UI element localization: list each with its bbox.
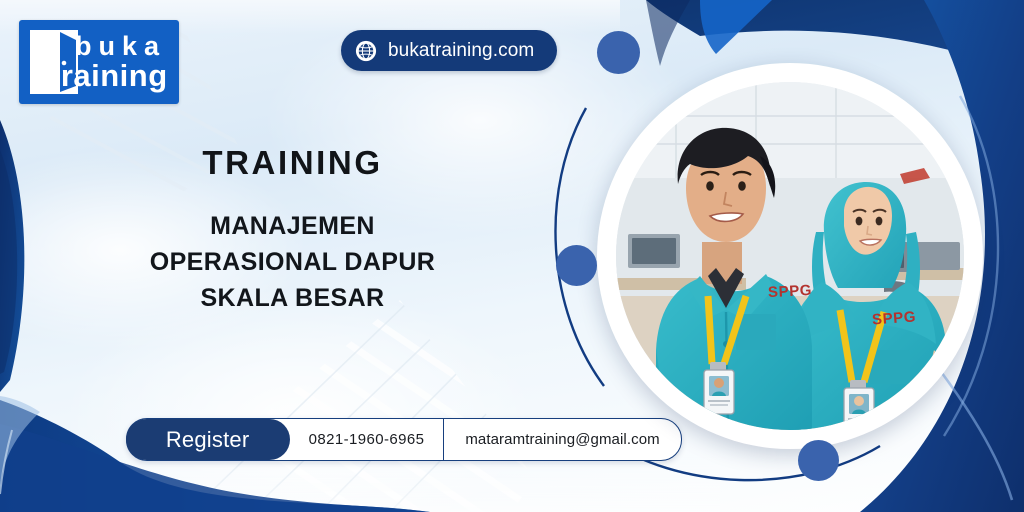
flyer-canvas: buka training bukatraining.com TRAINING … [0,0,1024,512]
course-title-line2: OPERASIONAL DAPUR [60,244,525,280]
staff-illustration [616,82,964,430]
brand-logo[interactable]: buka training [19,20,179,104]
uniform-badge-left: SPPG [768,282,813,301]
headline-block: TRAINING MANAJEMEN OPERASIONAL DAPUR SKA… [60,144,525,316]
register-button[interactable]: Register [126,419,290,460]
accent-circle-top [597,31,640,74]
website-url-text: bukatraining.com [388,40,534,62]
uniform-badge-right: SPPG [871,308,916,328]
course-title: MANAJEMEN OPERASIONAL DAPUR SKALA BESAR [60,208,525,316]
photo-clip: SPPG SPPG [616,82,964,430]
page-title: TRAINING [60,144,525,182]
contact-phone[interactable]: 0821-1960-6965 [290,419,445,460]
globe-icon [355,40,377,62]
hero-photo: SPPG SPPG [597,63,983,449]
logo-text-buka: buka [75,31,166,61]
logo-text-training: training [50,59,168,93]
website-pill[interactable]: bukatraining.com [341,30,557,71]
course-title-line3: SKALA BESAR [60,280,525,316]
course-title-line1: MANAJEMEN [60,208,525,244]
accent-circle-middle [556,245,597,286]
accent-circle-bottom [798,440,839,481]
